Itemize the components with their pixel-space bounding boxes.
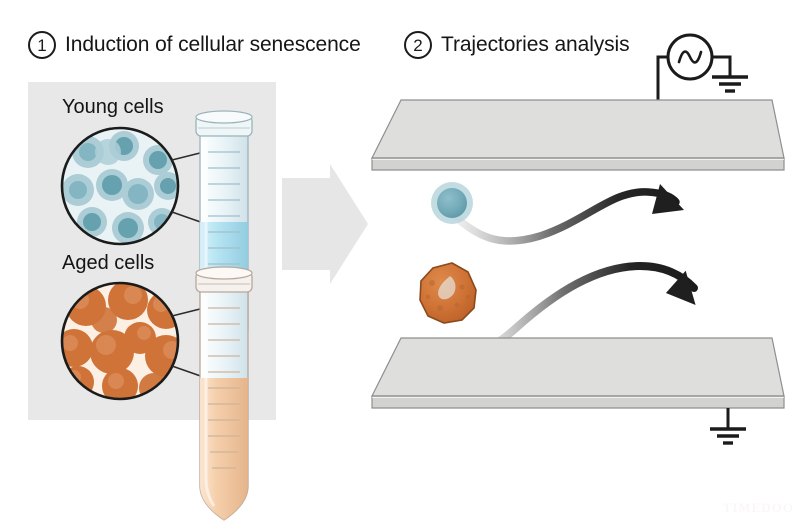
top-electrode-plate [372, 100, 784, 170]
watermark: TIMEDOO [723, 500, 794, 516]
trajectory-path [450, 192, 676, 241]
bottom-electrode-plate [372, 338, 784, 443]
tube-cap [196, 111, 252, 136]
young-cell-trajectory [431, 182, 684, 241]
trajectory-path [468, 266, 694, 349]
young-cell-body [437, 188, 467, 218]
aged-cell-trajectory [420, 263, 706, 349]
tube-cap [196, 267, 252, 292]
figure-artwork [0, 0, 800, 530]
process-flow-arrow [282, 164, 368, 284]
aged-cell-population [55, 280, 187, 404]
earth-ground-icon [712, 77, 748, 91]
aged-cells-centrifuge-tube [196, 267, 252, 520]
young-cells-micrograph [62, 128, 212, 244]
aged-cells-micrograph [55, 280, 212, 404]
source-to-ground-wire [712, 57, 730, 76]
trajectory-arrowhead [652, 184, 684, 214]
earth-ground-icon [710, 429, 746, 443]
figure-canvas: 1 Induction of cellular senescence 2 Tra… [0, 0, 800, 530]
